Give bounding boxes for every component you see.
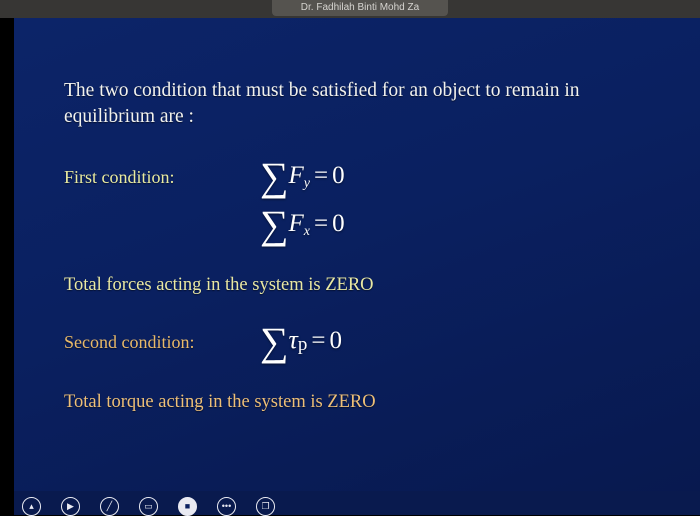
summation-sigma-icon: ∑ xyxy=(260,202,289,247)
share-screen-glyph: ▭ xyxy=(140,498,157,515)
second-condition-formula-torque: ∑τp=0 xyxy=(260,322,342,362)
value-zero-2: 0 xyxy=(332,210,345,237)
value-zero-1: 0 xyxy=(332,162,345,189)
annotate-pencil-glyph: ╱ xyxy=(101,498,118,515)
more-options-icon[interactable]: ••• xyxy=(217,497,236,516)
subscript-p: p xyxy=(298,334,308,355)
first-condition-label: First condition: xyxy=(64,167,260,188)
presentation-slide: The two condition that must be satisfied… xyxy=(14,18,700,491)
value-zero-3: 0 xyxy=(329,327,342,354)
summation-sigma-icon: ∑ xyxy=(260,319,289,364)
force-variable-x: Fx xyxy=(289,210,311,237)
force-variable-y: Fy xyxy=(289,162,311,189)
presenter-name-tab[interactable]: Dr. Fadhilah Binti Mohd Za xyxy=(272,0,448,16)
share-screen-icon[interactable]: ▭ xyxy=(139,497,158,516)
microphone-icon[interactable]: ▴ xyxy=(22,497,41,516)
window-title-bar: Dr. Fadhilah Binti Mohd Za xyxy=(0,0,700,18)
more-options-glyph: ••• xyxy=(218,498,235,515)
total-torque-statement: Total torque acting in the system is ZER… xyxy=(64,392,684,413)
first-condition-formula-y: ∑Fy=0 xyxy=(260,157,345,197)
control-icon-group: ▴ ▶ ╱ ▭ ■ ••• ❐ xyxy=(22,497,275,516)
letterbox-left-margin xyxy=(0,18,14,491)
first-condition-formula-x: ∑Fx=0 xyxy=(260,205,684,245)
participants-glyph: ■ xyxy=(179,498,196,515)
microphone-glyph: ▴ xyxy=(23,498,40,515)
video-camera-glyph: ▶ xyxy=(62,498,79,515)
total-forces-statement: Total forces acting in the system is ZER… xyxy=(64,275,684,296)
chat-icon[interactable]: ❐ xyxy=(256,497,275,516)
chat-glyph: ❐ xyxy=(257,498,274,515)
torque-variable: τp xyxy=(289,325,308,354)
first-condition-row: First condition: ∑Fy=0 xyxy=(64,157,684,197)
meeting-control-bar: ▴ ▶ ╱ ▭ ■ ••• ❐ xyxy=(0,491,700,515)
summation-sigma-icon: ∑ xyxy=(260,154,289,199)
second-condition-row: Second condition: ∑τp=0 xyxy=(64,322,684,362)
annotate-pencil-icon[interactable]: ╱ xyxy=(100,497,119,516)
controlbar-left-margin xyxy=(0,491,14,515)
video-camera-icon[interactable]: ▶ xyxy=(61,497,80,516)
participants-icon[interactable]: ■ xyxy=(178,497,197,516)
equals-sign-3: = xyxy=(307,327,329,354)
equals-sign-2: = xyxy=(310,210,332,237)
slide-intro-text: The two condition that must be satisfied… xyxy=(64,78,664,131)
second-condition-label: Second condition: xyxy=(64,332,260,353)
equals-sign-1: = xyxy=(310,162,332,189)
slide-content: The two condition that must be satisfied… xyxy=(64,78,684,413)
